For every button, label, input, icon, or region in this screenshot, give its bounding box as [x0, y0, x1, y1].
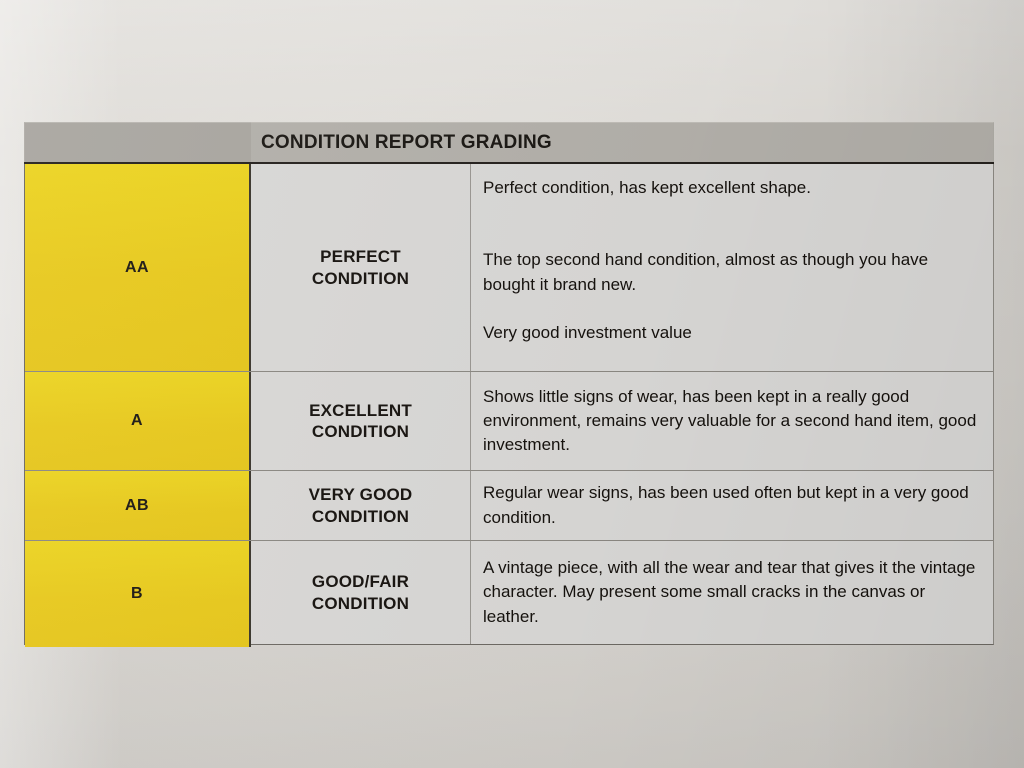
grade-label: AA — [125, 259, 149, 277]
description-text: Perfect condition, has kept excellent sh… — [483, 176, 979, 345]
table-row: B GOOD/FAIR CONDITION A vintage piece, w… — [25, 541, 993, 644]
description-cell-aa: Perfect condition, has kept excellent sh… — [471, 164, 993, 371]
description-text: Regular wear signs, has been used often … — [483, 481, 979, 529]
table-header-left-spacer — [24, 122, 251, 162]
table-header-title-cell: CONDITION REPORT GRADING — [251, 122, 994, 162]
condition-name-cell-a: EXCELLENT CONDITION — [251, 372, 471, 470]
description-text: A vintage piece, with all the wear and t… — [483, 556, 979, 628]
grade-cell-a: A — [25, 372, 251, 470]
table-row: A EXCELLENT CONDITION Shows little signs… — [25, 372, 993, 471]
table-row: AB VERY GOOD CONDITION Regular wear sign… — [25, 471, 993, 541]
condition-report-grading-table: CONDITION REPORT GRADING AA PERFECT COND… — [24, 122, 994, 645]
condition-name-label: PERFECT CONDITION — [312, 246, 409, 289]
condition-name-label: GOOD/FAIR CONDITION — [312, 571, 409, 614]
condition-name-cell-b: GOOD/FAIR CONDITION — [251, 541, 471, 644]
table-header: CONDITION REPORT GRADING — [24, 122, 994, 164]
grade-label: B — [131, 585, 143, 603]
grade-cell-b: B — [25, 541, 251, 647]
description-text: Shows little signs of wear, has been kep… — [483, 385, 979, 457]
grade-label: A — [131, 412, 143, 430]
grade-cell-aa: AA — [25, 164, 251, 371]
condition-name-cell-aa: PERFECT CONDITION — [251, 164, 471, 371]
condition-name-label: EXCELLENT CONDITION — [309, 400, 412, 443]
condition-name-cell-ab: VERY GOOD CONDITION — [251, 471, 471, 540]
table-row: AA PERFECT CONDITION Perfect condition, … — [25, 164, 993, 372]
description-cell-ab: Regular wear signs, has been used often … — [471, 471, 993, 540]
description-cell-b: A vintage piece, with all the wear and t… — [471, 541, 993, 644]
condition-name-label: VERY GOOD CONDITION — [309, 484, 413, 527]
grade-label: AB — [125, 497, 149, 515]
page-title: CONDITION REPORT GRADING — [261, 132, 552, 154]
description-cell-a: Shows little signs of wear, has been kep… — [471, 372, 993, 470]
table-body: AA PERFECT CONDITION Perfect condition, … — [24, 164, 994, 645]
grade-cell-ab: AB — [25, 471, 251, 540]
